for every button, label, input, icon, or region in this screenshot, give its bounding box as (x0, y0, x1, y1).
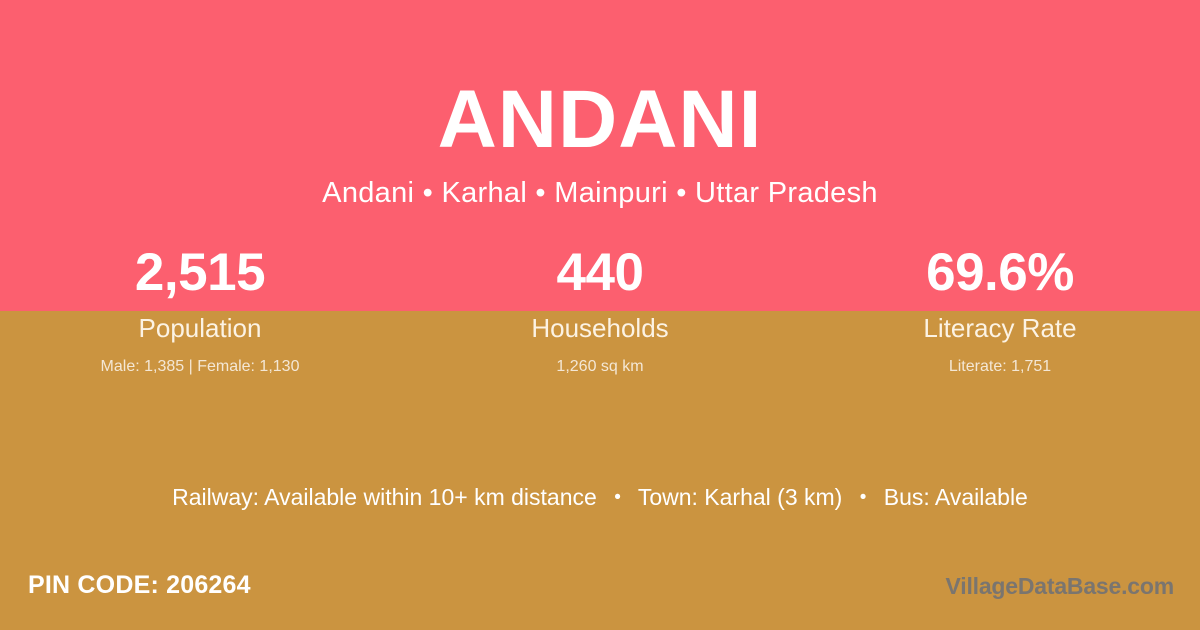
card-header: ANDANI Andani • Karhal • Mainpuri • Utta… (0, 78, 1200, 210)
bullet-separator-icon: • (849, 487, 878, 510)
stat-label: Population (0, 313, 400, 344)
card-footer: PIN CODE: 206264 VillageDataBase.com (0, 556, 1200, 630)
stat-label: Literacy Rate (800, 313, 1200, 344)
village-info-card: ANDANI Andani • Karhal • Mainpuri • Utta… (0, 0, 1200, 630)
stat-value: 69.6% (800, 245, 1200, 301)
amenity-town: Town: Karhal (3 km) (638, 484, 843, 510)
stat-population: 2,515 Population Male: 1,385 | Female: 1… (0, 245, 400, 376)
stat-subtext: Male: 1,385 | Female: 1,130 (0, 357, 400, 376)
bullet-separator-icon: • (603, 487, 632, 510)
amenity-bus: Bus: Available (884, 484, 1028, 510)
statistics-row: 2,515 Population Male: 1,385 | Female: 1… (0, 245, 1200, 376)
stat-subtext: Literate: 1,751 (800, 357, 1200, 376)
page-title: ANDANI (0, 78, 1200, 162)
stat-value: 440 (400, 245, 800, 301)
breadcrumb: Andani • Karhal • Mainpuri • Uttar Prade… (0, 176, 1200, 211)
amenities-line: Railway: Available within 10+ km distanc… (0, 484, 1200, 512)
stat-households: 440 Households 1,260 sq km (400, 245, 800, 376)
stat-literacy-rate: 69.6% Literacy Rate Literate: 1,751 (800, 245, 1200, 376)
pin-code: PIN CODE: 206264 (28, 570, 251, 600)
amenity-railway: Railway: Available within 10+ km distanc… (172, 484, 597, 510)
stat-label: Households (400, 313, 800, 344)
brand-watermark: VillageDataBase.com (946, 573, 1174, 601)
stat-value: 2,515 (0, 245, 400, 301)
stat-subtext: 1,260 sq km (400, 357, 800, 376)
